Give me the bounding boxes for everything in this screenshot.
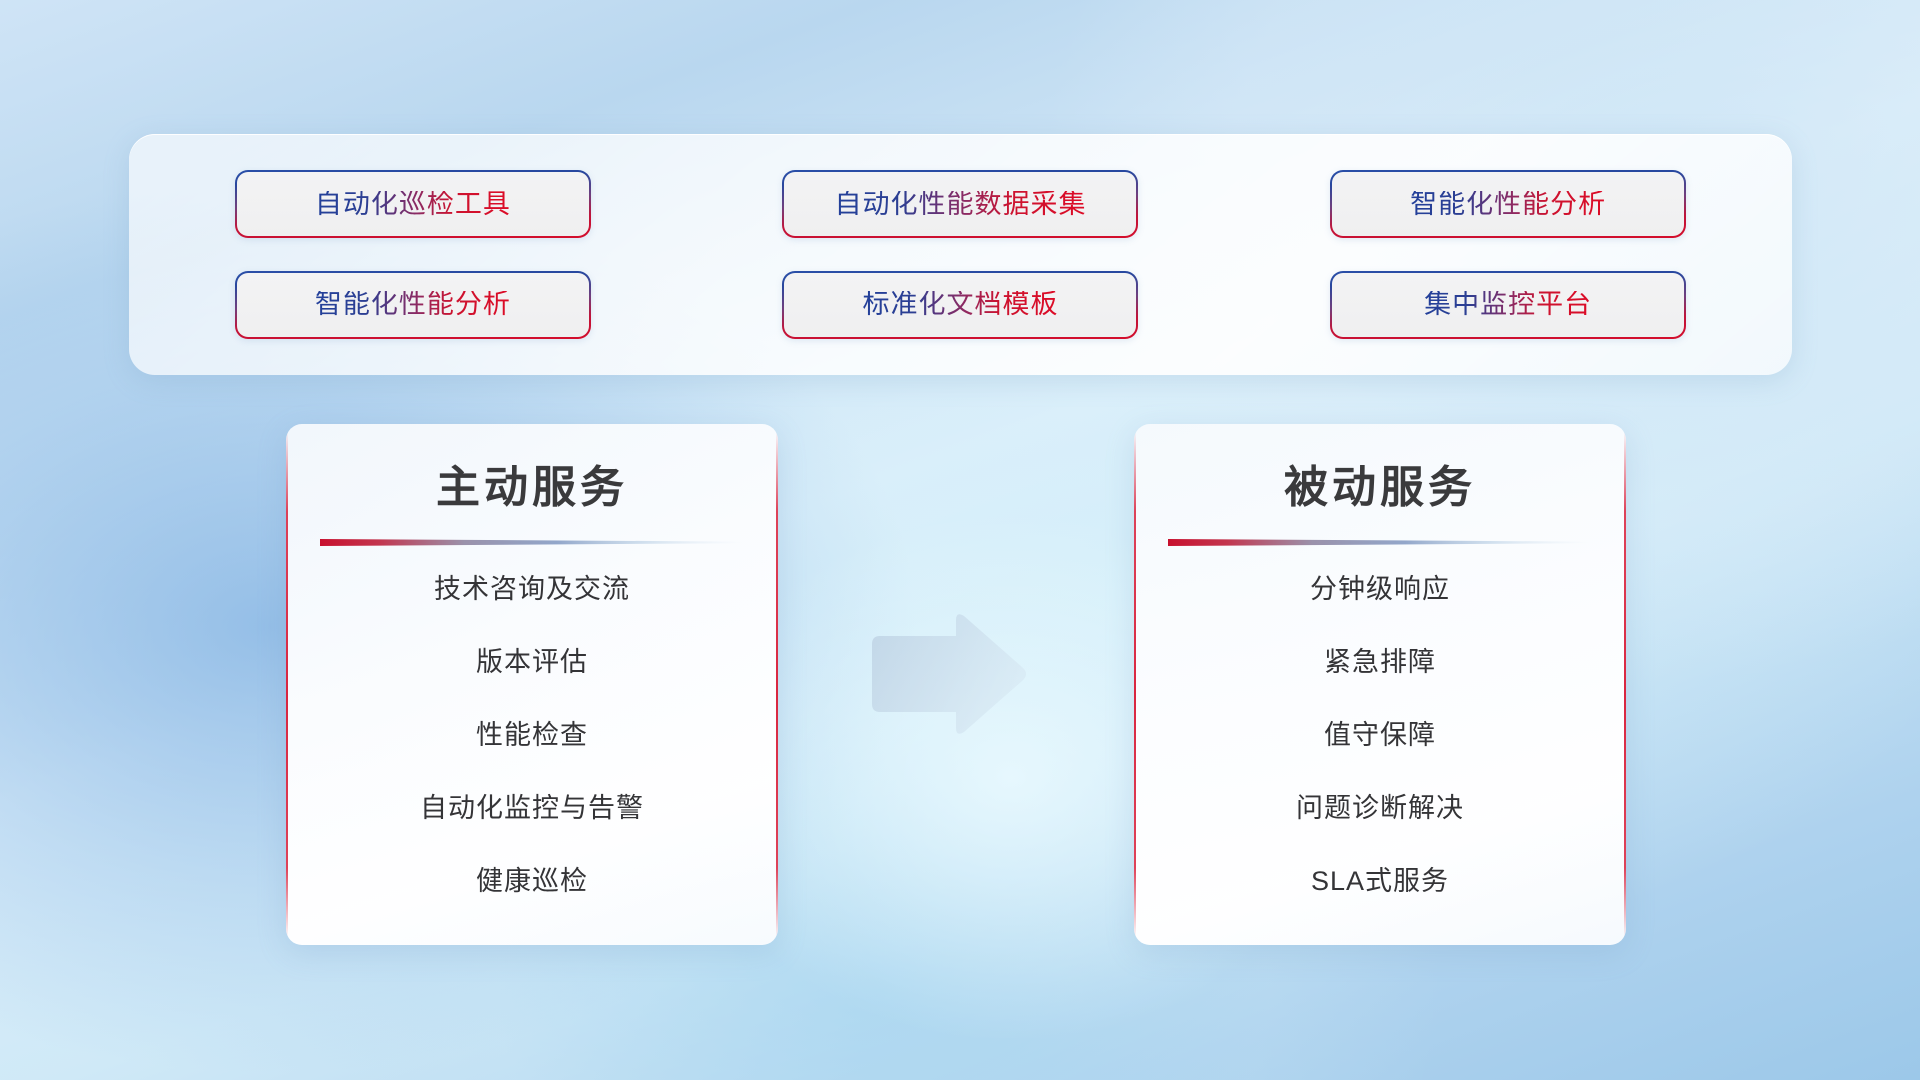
flow-arrow-right-icon xyxy=(866,610,1030,738)
capability-chip-label: 集中监控平台 xyxy=(1424,291,1592,318)
capability-chip-6[interactable]: 集中监控平台 xyxy=(1330,271,1686,339)
service-list-item: 自动化监控与告警 xyxy=(286,795,778,822)
service-list-item: SLA式服务 xyxy=(1134,868,1626,895)
card-accent-edge-left xyxy=(286,430,288,939)
capability-chip-5[interactable]: 标准化文档模板 xyxy=(782,271,1138,339)
capability-chip-label: 自动化巡检工具 xyxy=(315,191,511,218)
capability-chip-inner: 自动化性能数据采集 xyxy=(784,172,1136,236)
service-list-item: 健康巡检 xyxy=(286,868,778,895)
capability-chip-inner: 智能化性能分析 xyxy=(237,273,589,337)
capability-chip-4[interactable]: 智能化性能分析 xyxy=(235,271,591,339)
card-divider xyxy=(1168,536,1592,548)
service-card-title: 主动服务 xyxy=(286,464,778,512)
service-list-item: 性能检查 xyxy=(286,722,778,749)
capability-chip-inner: 集中监控平台 xyxy=(1332,273,1684,337)
diagram-canvas: 自动化巡检工具 自动化性能数据采集 智能化性能分析 智能化性能分析 标准化文档模… xyxy=(0,0,1920,1080)
capabilities-panel: 自动化巡检工具 自动化性能数据采集 智能化性能分析 智能化性能分析 标准化文档模… xyxy=(129,134,1792,375)
service-card-title: 被动服务 xyxy=(1134,464,1626,512)
capability-chip-1[interactable]: 自动化巡检工具 xyxy=(235,170,591,238)
service-list-item: 版本评估 xyxy=(286,649,778,676)
capability-chip-label: 智能化性能分析 xyxy=(1410,191,1606,218)
service-item-list: 技术咨询及交流 版本评估 性能检查 自动化监控与告警 健康巡检 xyxy=(286,576,778,895)
service-item-list: 分钟级响应 紧急排障 值守保障 问题诊断解决 SLA式服务 xyxy=(1134,576,1626,895)
capability-chip-label: 标准化文档模板 xyxy=(862,291,1058,318)
service-card-reactive[interactable]: 被动服务 分钟级响应 紧急排障 值守保障 xyxy=(1134,424,1626,945)
service-list-item: 技术咨询及交流 xyxy=(286,576,778,603)
capability-chip-3[interactable]: 智能化性能分析 xyxy=(1330,170,1686,238)
service-list-item: 分钟级响应 xyxy=(1134,576,1626,603)
card-divider xyxy=(320,536,744,548)
capability-chip-inner: 标准化文档模板 xyxy=(784,273,1136,337)
capability-chip-2[interactable]: 自动化性能数据采集 xyxy=(782,170,1138,238)
capability-chip-label: 智能化性能分析 xyxy=(315,291,511,318)
service-list-item: 紧急排障 xyxy=(1134,649,1626,676)
capability-chip-label: 自动化性能数据采集 xyxy=(834,191,1086,218)
card-accent-edge-right xyxy=(776,430,778,939)
card-accent-edge-left xyxy=(1134,430,1136,939)
service-list-item: 问题诊断解决 xyxy=(1134,795,1626,822)
capability-chip-inner: 自动化巡检工具 xyxy=(237,172,589,236)
service-card-proactive[interactable]: 主动服务 技术咨询及交流 版本评估 性能检查 xyxy=(286,424,778,945)
service-list-item: 值守保障 xyxy=(1134,722,1626,749)
capability-chip-inner: 智能化性能分析 xyxy=(1332,172,1684,236)
card-accent-edge-right xyxy=(1624,430,1626,939)
